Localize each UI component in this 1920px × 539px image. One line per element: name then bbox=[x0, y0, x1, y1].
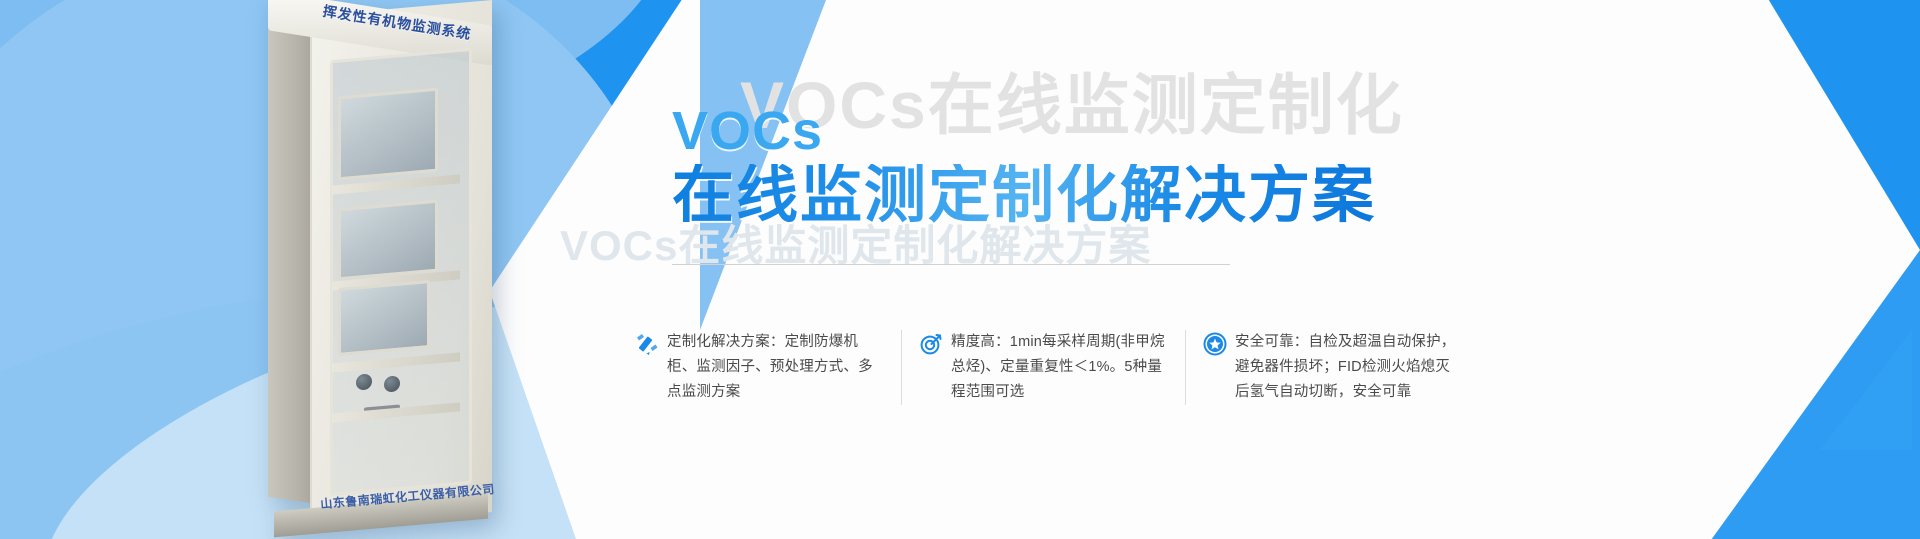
headline-english: VOCs bbox=[672, 104, 1376, 158]
pencil-ruler-icon bbox=[634, 331, 660, 362]
vocs-promo-banner: 挥发性有机物监测系统 山东鲁南瑞虹化工仪器有限公司 VOCs在线监测定制化 VO… bbox=[0, 0, 1920, 539]
cabinet-side-panel bbox=[268, 27, 312, 503]
cabinet-display-2 bbox=[338, 200, 438, 281]
headline-chinese: 在线监测定制化解决方案 bbox=[672, 164, 1376, 227]
feature-text: 安全可靠：自检及超温自动保护，避免器件损坏；FID检测火焰熄灭后氢气自动切断，安… bbox=[1235, 330, 1464, 405]
target-arrow-icon bbox=[918, 331, 944, 362]
star-shield-icon bbox=[1202, 331, 1228, 362]
feature-text: 精度高：1min每采样周期(非甲烷总烃)、定量重复性＜1%。5种量程范围可选 bbox=[951, 330, 1171, 405]
product-image-vocs-cabinet: 挥发性有机物监测系统 山东鲁南瑞虹化工仪器有限公司 bbox=[268, 8, 504, 528]
cabinet-display-3 bbox=[338, 280, 430, 356]
feature-item: 安全可靠：自检及超温自动保护，避免器件损坏；FID检测火焰熄灭后氢气自动切断，安… bbox=[1202, 330, 1464, 405]
feature-item: 定制化解决方案：定制防爆机柜、监测因子、预处理方式、多点监测方案 bbox=[634, 330, 902, 405]
feature-item: 精度高：1min每采样周期(非甲烷总烃)、定量重复性＜1%。5种量程范围可选 bbox=[918, 330, 1186, 405]
feature-list: 定制化解决方案：定制防爆机柜、监测因子、预处理方式、多点监测方案 精度高：1mi… bbox=[634, 330, 1464, 405]
cabinet-display-1 bbox=[338, 88, 438, 181]
feature-text: 定制化解决方案：定制防爆机柜、监测因子、预处理方式、多点监测方案 bbox=[667, 330, 887, 405]
headline-group: VOCs 在线监测定制化解决方案 bbox=[672, 104, 1376, 227]
headline-divider bbox=[672, 264, 1230, 265]
